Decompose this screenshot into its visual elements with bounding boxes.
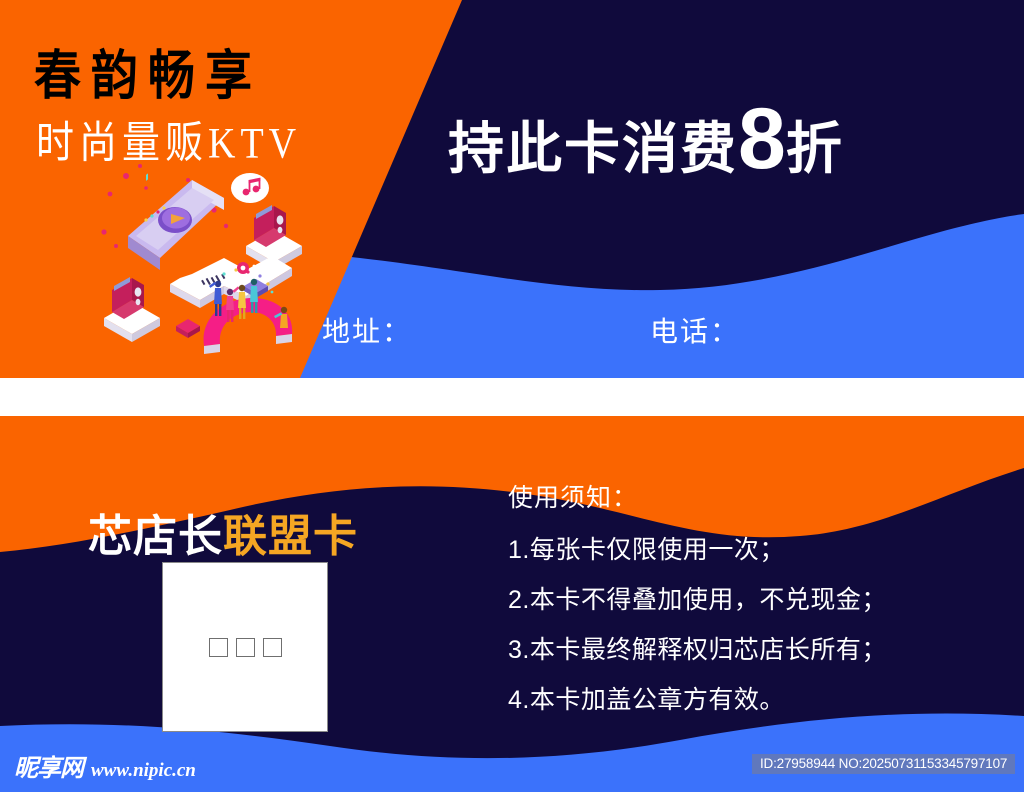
tablet-screen: [128, 173, 224, 270]
qr-code-placeholder[interactable]: [162, 562, 328, 732]
brand-logo: 芯店长联盟卡: [88, 500, 358, 564]
page-title: 春韵畅享: [34, 32, 262, 109]
discount-suffix: 折: [786, 117, 842, 180]
usage-note-1: 1.每张卡仅限使用一次；: [508, 530, 988, 566]
music-note-icon: [231, 173, 269, 203]
site-watermark: 昵享网 www.nipic.cn: [14, 748, 196, 783]
discount-prefix: 持此卡消费: [448, 117, 738, 180]
ktv-isometric-illustration: [96, 158, 328, 358]
phone-label: 电话：: [650, 310, 740, 350]
usage-notes-title: 使用须知：: [508, 478, 988, 514]
missing-glyph-box-2: [236, 638, 255, 657]
discount-number: 8: [738, 91, 786, 187]
usage-note-2: 2.本卡不得叠加使用，不兑现金；: [508, 580, 988, 616]
watermark-url: www.nipic.cn: [91, 760, 196, 782]
missing-glyph-box-1: [209, 638, 228, 657]
coupon-card-image: 春韵畅享 时尚量贩KTV 持此卡消费8折 地址： 电话：: [0, 0, 1024, 792]
usage-notes: 使用须知： 1.每张卡仅限使用一次； 2.本卡不得叠加使用，不兑现金； 3.本卡…: [508, 478, 988, 730]
missing-glyph-box-3: [263, 638, 282, 657]
usage-note-3: 3.本卡最终解释权归芯店长所有；: [508, 630, 988, 666]
discount-headline: 持此卡消费8折: [448, 104, 842, 185]
image-id-badge: ID:27958944 NO:20250731153345797107: [752, 754, 1015, 774]
address-label: 地址：: [322, 310, 412, 350]
watermark-logo-text: 昵享网: [14, 748, 83, 783]
brand-primary: 芯店长: [88, 512, 223, 561]
brand-secondary: 联盟卡: [223, 512, 358, 561]
usage-note-4: 4.本卡加盖公章方有效。: [508, 680, 988, 716]
speaker-bottom-left: [104, 277, 160, 342]
equalizer-bars: [146, 173, 148, 181]
top-card: 春韵畅享 时尚量贩KTV 持此卡消费8折 地址： 电话：: [0, 0, 1024, 378]
